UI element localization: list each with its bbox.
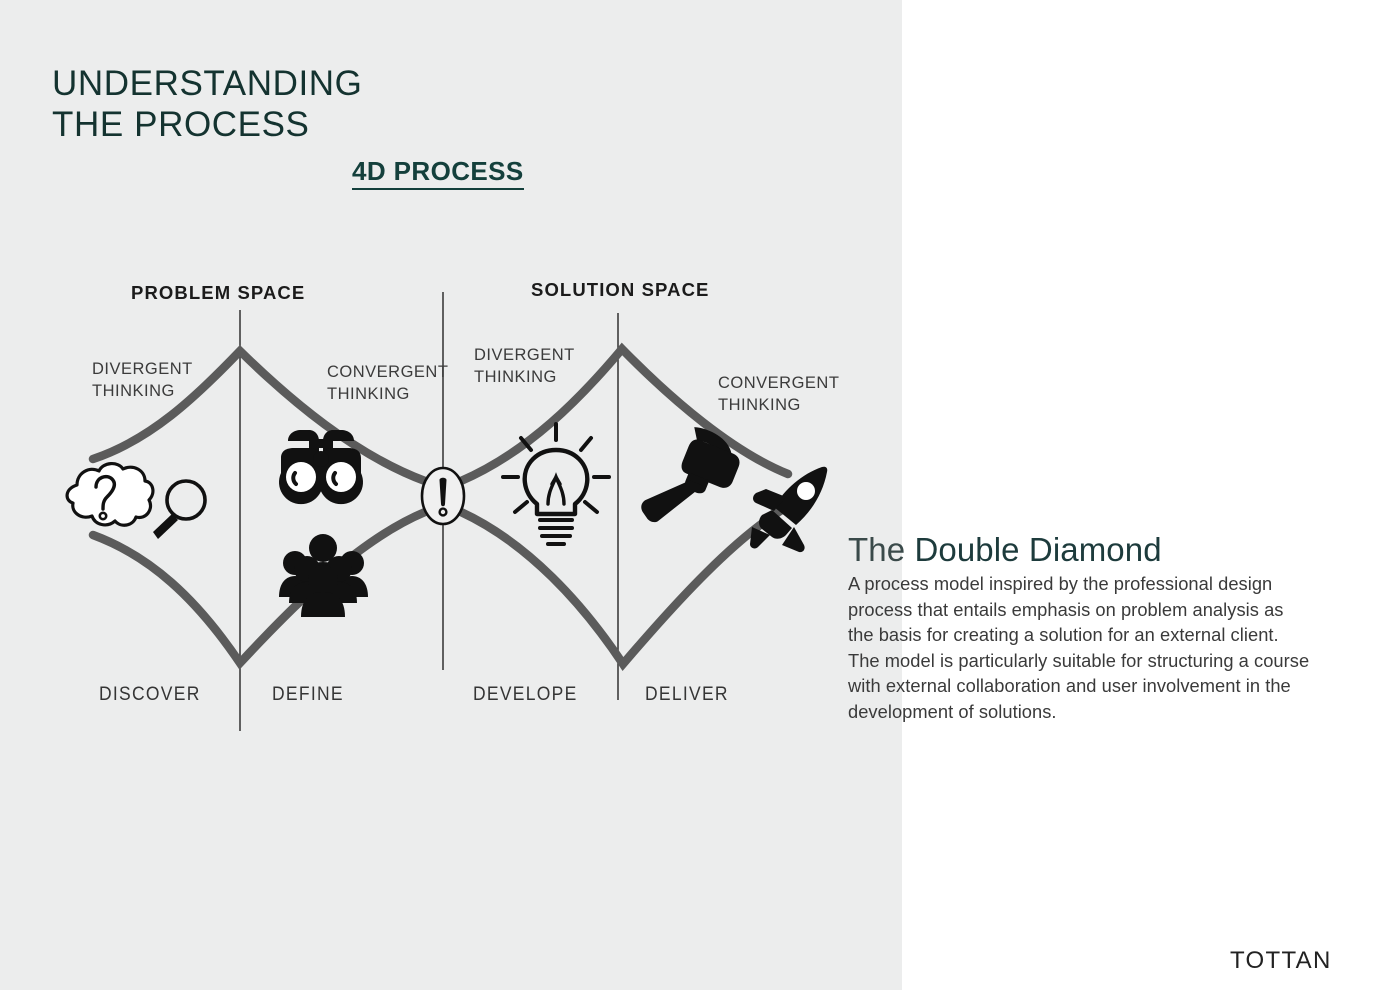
hammer-icon	[637, 418, 747, 545]
rocket-icon	[750, 467, 827, 552]
thought-cloud-question-icon	[67, 464, 153, 526]
heading-prefix: The	[848, 531, 914, 568]
lightbulb-icon	[503, 424, 609, 544]
phase-label-deliver: DELIVER	[645, 684, 729, 706]
diamond-1-lower-curve	[93, 512, 425, 663]
double-diamond-description-block: The Double Diamond A process model inspi…	[848, 531, 1348, 725]
exclamation-circle-icon	[422, 468, 464, 524]
diamond-2-lower-curve	[461, 505, 790, 664]
thinking-label-convergent-2: CONVERGENT THINKING	[718, 372, 839, 416]
phase-label-develope: DEVELOPE	[473, 684, 578, 706]
thinking-label-divergent-2: DIVERGENT THINKING	[474, 344, 575, 388]
lightbulb-rays	[503, 424, 609, 512]
magnifier-icon	[153, 481, 205, 539]
space-label-solution: SOLUTION SPACE	[531, 279, 710, 301]
thinking-label-divergent-1: DIVERGENT THINKING	[92, 358, 193, 402]
double-diamond-body-text: A process model inspired by the professi…	[848, 571, 1348, 725]
thinking-label-convergent-1: CONVERGENT THINKING	[327, 361, 448, 405]
double-diamond-heading: The Double Diamond	[848, 531, 1348, 569]
phase-label-discover: DISCOVER	[99, 684, 201, 706]
heading-emphasis: Double Diamond	[914, 531, 1161, 568]
brand-mark: TOTTAN	[1230, 947, 1332, 975]
double-diamond-diagram: PROBLEM SPACE SOLUTION SPACE DIVERGENT T…	[0, 0, 902, 990]
phase-label-define: DEFINE	[272, 684, 344, 706]
space-label-problem: PROBLEM SPACE	[131, 282, 305, 304]
